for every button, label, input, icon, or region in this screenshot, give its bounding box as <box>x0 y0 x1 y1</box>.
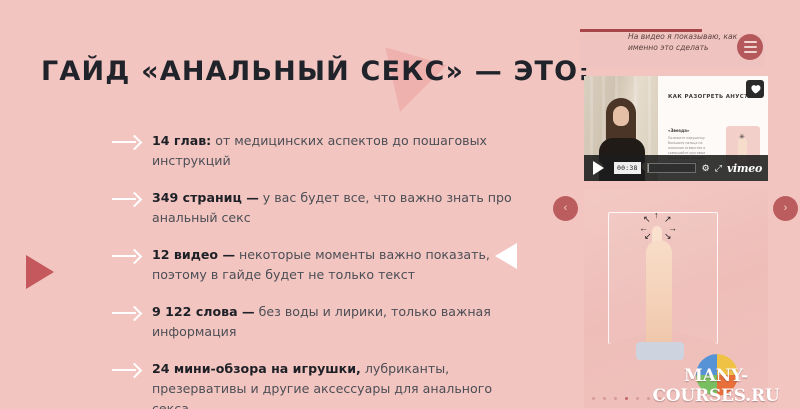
decorative-triangle-red <box>26 255 54 289</box>
list-item-text: 12 видео — некоторые моменты важно показ… <box>140 245 532 285</box>
list-item: 14 глав: от медицинских аспектов до поша… <box>112 131 532 171</box>
list-item: 24 мини-обзора на игрушки, лубриканты, п… <box>112 359 532 409</box>
heart-icon[interactable] <box>746 80 764 98</box>
list-item-strong: 24 мини-обзора на игрушки, <box>152 361 361 376</box>
watermark: MANY-COURSES.RU <box>634 358 798 398</box>
arrow-right-icon <box>112 247 140 265</box>
video-slide-subtitle: «Звезда» <box>668 128 690 133</box>
list-item-strong: 14 глав: <box>152 133 211 148</box>
list-item-text: 24 мини-обзора на игрушки, лубриканты, п… <box>140 359 532 409</box>
arrow-right-icon <box>112 190 140 208</box>
list-item: 9 122 слова — без воды и лирики, только … <box>112 302 532 342</box>
caption-text: На видео я показываю, как именно это сде… <box>628 31 748 53</box>
video-timecode: 00:38 <box>614 162 641 174</box>
video-slide-title: КАК РАЗОГРЕТЬ АНУС? <box>668 94 748 100</box>
carousel-dot[interactable] <box>614 397 617 400</box>
chevron-right-icon[interactable]: › <box>773 196 798 221</box>
list-item-strong: 9 122 слова — <box>152 304 255 319</box>
page-title: ГАЙД «АНАЛЬНЫЙ СЕКС» — ЭТО: <box>41 56 590 87</box>
arrow-right-icon <box>112 361 140 379</box>
carousel-dot[interactable] <box>592 397 595 400</box>
list-item-text: 349 страниц — у вас будет все, что важно… <box>140 188 532 228</box>
list-item: 12 видео — некоторые моменты важно показ… <box>112 245 532 285</box>
video-progress-bar[interactable] <box>647 163 696 173</box>
chevron-left-icon[interactable]: ‹ <box>553 196 578 221</box>
list-item-text: 9 122 слова — без воды и лирики, только … <box>140 302 532 342</box>
illustration-hand <box>646 240 672 358</box>
slide-burst-icon: ✳ <box>739 134 745 141</box>
expand-icon[interactable]: ⤢ <box>715 164 722 173</box>
right-panel: На видео я показываю, как именно это сде… <box>580 0 775 409</box>
arrow-right-icon <box>112 304 140 322</box>
menu-bar <box>744 41 757 43</box>
presenter-face <box>613 106 629 126</box>
carousel-dot-active[interactable] <box>625 397 628 400</box>
slide-canvas: ГАЙД «АНАЛЬНЫЙ СЕКС» — ЭТО: 14 глав: от … <box>0 0 800 409</box>
list-item: 349 страниц — у вас будет все, что важно… <box>112 188 532 228</box>
play-icon[interactable] <box>584 155 612 181</box>
list-item-strong: 349 страниц — <box>152 190 259 205</box>
arrow-right-icon <box>112 133 140 151</box>
list-item-strong: 12 видео — <box>152 247 235 262</box>
watermark-text: MANY-COURSES.RU <box>634 366 798 406</box>
menu-bar <box>744 46 757 48</box>
list-item-text: 14 глав: от медицинских аспектов до поша… <box>140 131 532 171</box>
menu-bar <box>744 51 757 53</box>
gear-icon[interactable]: ⚙ <box>702 164 710 173</box>
hamburger-menu-icon[interactable] <box>737 34 763 60</box>
video-controls-bar[interactable]: 00:38 ⚙ ⤢ vimeo <box>584 155 768 181</box>
vimeo-logo[interactable]: vimeo <box>727 162 762 175</box>
video-player[interactable]: КАК РАЗОГРЕТЬ АНУС? «Звезда» Положите по… <box>584 76 768 181</box>
video-progress-fill <box>648 164 650 172</box>
carousel-dot[interactable] <box>603 397 606 400</box>
feature-list: 14 глав: от медицинских аспектов до поша… <box>112 131 532 409</box>
